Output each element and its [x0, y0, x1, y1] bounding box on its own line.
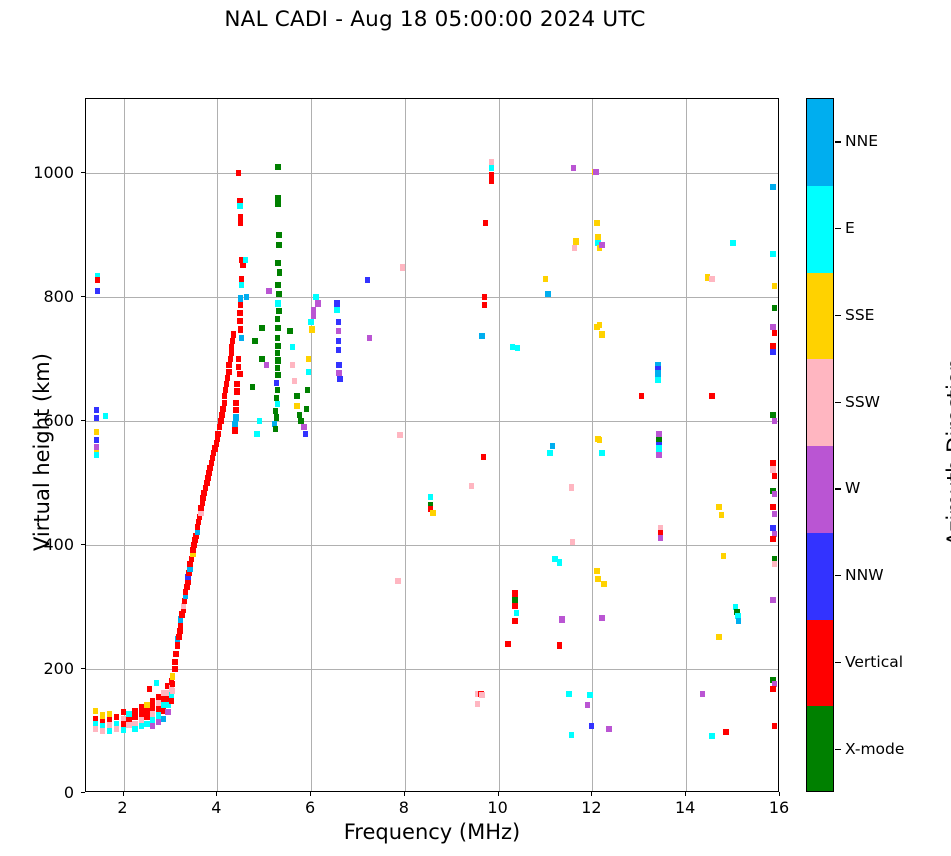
data-point	[587, 692, 593, 698]
colorbar-tick	[835, 315, 841, 316]
colorbar-tick	[835, 228, 841, 229]
y-tick-label: 1000	[14, 163, 74, 182]
data-point	[150, 723, 156, 729]
data-point	[228, 356, 234, 362]
x-tick-mark	[123, 792, 124, 796]
data-point	[275, 401, 281, 407]
y-tick-mark	[81, 420, 85, 421]
data-point	[721, 553, 727, 559]
data-point	[309, 326, 315, 332]
data-point	[430, 510, 436, 516]
y-tick-mark	[81, 172, 85, 173]
data-point	[222, 400, 228, 406]
data-point	[275, 343, 281, 349]
data-point	[237, 203, 243, 209]
colorbar-tick	[835, 749, 841, 750]
colorbar-tick	[835, 402, 841, 403]
data-point	[543, 276, 549, 282]
data-point	[772, 305, 778, 311]
data-point	[287, 328, 293, 334]
y-tick-mark	[81, 668, 85, 669]
data-point	[550, 443, 556, 449]
data-point	[173, 651, 179, 657]
data-point	[479, 333, 485, 339]
colorbar-tick	[835, 662, 841, 663]
y-axis-label: Virtual height (km)	[30, 302, 54, 602]
data-point	[483, 220, 489, 226]
colorbar-segment-x-mode[interactable]	[807, 706, 833, 792]
x-tick-mark	[404, 792, 405, 796]
x-tick-label: 2	[103, 798, 143, 817]
colorbar-segment-nne[interactable]	[807, 99, 833, 186]
x-tick-label: 14	[665, 798, 705, 817]
data-point	[94, 415, 100, 421]
data-point	[100, 728, 106, 734]
data-point	[482, 294, 488, 300]
data-point	[593, 169, 599, 175]
data-point	[93, 726, 99, 732]
data-point	[597, 437, 603, 443]
data-point	[716, 634, 722, 640]
data-point	[770, 597, 776, 603]
data-point	[505, 641, 511, 647]
data-point	[222, 393, 228, 399]
colorbar-tick	[835, 141, 841, 142]
data-point	[237, 310, 243, 316]
data-point	[482, 302, 488, 308]
data-point	[656, 452, 662, 458]
data-point	[512, 603, 518, 609]
data-point	[237, 371, 243, 377]
data-point	[294, 393, 300, 399]
data-point	[595, 576, 601, 582]
data-point	[243, 257, 249, 263]
data-point	[94, 452, 100, 458]
data-point	[237, 318, 243, 324]
data-point	[428, 494, 434, 500]
ionogram-figure: NAL CADI - Aug 18 05:00:00 2024 UTC 2468…	[0, 0, 951, 856]
data-point	[489, 178, 495, 184]
colorbar-label-ssw: SSW	[845, 393, 880, 411]
data-point	[290, 344, 296, 350]
colorbar-segment-ssw[interactable]	[807, 359, 833, 446]
colorbar[interactable]	[806, 98, 834, 792]
data-point	[594, 220, 600, 226]
data-point	[229, 344, 235, 350]
data-point	[772, 511, 778, 517]
data-point	[95, 277, 101, 283]
data-point	[226, 362, 232, 368]
data-point	[132, 726, 138, 732]
data-point	[172, 666, 178, 672]
data-point	[170, 688, 176, 694]
data-point	[566, 691, 572, 697]
data-point	[250, 384, 256, 390]
data-point	[337, 376, 343, 382]
data-point	[275, 335, 281, 341]
data-point	[231, 331, 237, 337]
data-point	[730, 240, 736, 246]
data-point	[226, 369, 232, 375]
data-point	[599, 450, 605, 456]
data-point	[94, 437, 100, 443]
data-point	[239, 282, 245, 288]
data-point	[594, 568, 600, 574]
x-axis-label: Frequency (MHz)	[85, 820, 779, 844]
data-point	[303, 431, 309, 437]
x-tick-label: 16	[759, 798, 799, 817]
x-tick-label: 12	[571, 798, 611, 817]
data-point	[589, 723, 595, 729]
data-point	[599, 331, 605, 337]
plot-area[interactable]	[85, 98, 779, 792]
data-point	[239, 335, 245, 341]
data-point	[217, 424, 223, 430]
data-point	[244, 294, 250, 300]
x-tick-label: 8	[384, 798, 424, 817]
data-point	[275, 201, 281, 207]
data-point	[772, 473, 778, 479]
data-point	[514, 610, 520, 616]
data-point	[95, 288, 101, 294]
x-tick-label: 4	[196, 798, 236, 817]
data-point	[700, 691, 706, 697]
page-title: NAL CADI - Aug 18 05:00:00 2024 UTC	[0, 7, 870, 32]
data-point	[259, 325, 265, 331]
colorbar-segment-vertical[interactable]	[807, 620, 833, 707]
data-point	[305, 387, 311, 393]
data-point	[275, 372, 281, 378]
data-point	[481, 454, 487, 460]
data-point	[515, 345, 521, 351]
data-point	[273, 426, 279, 432]
data-point	[292, 378, 298, 384]
data-point	[336, 338, 342, 344]
data-point	[772, 561, 778, 567]
data-point	[277, 269, 283, 275]
data-point	[172, 659, 178, 665]
data-point	[367, 335, 373, 341]
colorbar-segment-w[interactable]	[807, 446, 833, 533]
colorbar-label-x-mode: X-mode	[845, 740, 904, 758]
data-point	[311, 313, 317, 319]
data-point	[238, 220, 244, 226]
data-point	[304, 406, 310, 412]
data-point	[161, 716, 167, 722]
data-point	[290, 362, 296, 368]
data-point	[259, 356, 265, 362]
data-point	[275, 282, 281, 288]
colorbar-tick	[835, 488, 841, 489]
data-point	[219, 412, 225, 418]
data-point	[275, 260, 281, 266]
data-point	[569, 732, 575, 738]
data-point	[276, 291, 282, 297]
data-point	[658, 535, 664, 541]
data-point	[252, 338, 258, 344]
data-point	[224, 381, 230, 387]
data-point	[572, 245, 578, 251]
data-point	[275, 357, 281, 363]
data-point	[232, 427, 238, 433]
data-point	[165, 709, 171, 715]
data-point	[475, 701, 481, 707]
data-point	[770, 251, 776, 257]
data-point	[264, 362, 270, 368]
y-tick-label: 0	[14, 783, 74, 802]
data-point	[233, 414, 239, 420]
data-point	[557, 559, 563, 565]
data-point	[215, 431, 221, 437]
data-point	[94, 429, 100, 435]
data-point	[107, 728, 113, 734]
data-point	[234, 381, 240, 387]
data-point	[170, 673, 176, 679]
data-point	[275, 387, 281, 393]
data-point	[308, 319, 314, 325]
data-point	[606, 726, 612, 732]
x-tick-label: 6	[290, 798, 330, 817]
data-point	[571, 165, 577, 171]
data-point	[275, 325, 281, 331]
data-point	[570, 539, 576, 545]
data-point	[275, 350, 281, 356]
data-point	[547, 450, 553, 456]
data-point	[709, 733, 715, 739]
data-point	[275, 164, 281, 170]
data-point	[336, 319, 342, 325]
data-point	[639, 393, 645, 399]
data-point	[479, 692, 485, 698]
x-tick-mark	[498, 792, 499, 796]
x-tick-mark	[685, 792, 686, 796]
data-point	[266, 288, 272, 294]
data-point	[772, 283, 778, 289]
data-point	[225, 375, 231, 381]
data-point	[716, 504, 722, 510]
data-point	[238, 326, 244, 332]
data-point	[772, 330, 778, 336]
colorbar-label-vertical: Vertical	[845, 653, 903, 671]
data-point	[336, 362, 342, 368]
data-point	[275, 300, 281, 306]
y-tick-mark	[81, 296, 85, 297]
colorbar-tick	[835, 575, 841, 576]
data-point	[236, 364, 242, 370]
colorbar-label-nnw: NNW	[845, 566, 884, 584]
colorbar-label-e: E	[845, 219, 855, 237]
data-point	[469, 483, 475, 489]
data-point	[709, 276, 715, 282]
data-point	[147, 686, 153, 692]
y-tick-mark	[81, 792, 85, 793]
x-tick-mark	[310, 792, 311, 796]
data-point	[770, 184, 776, 190]
data-point	[275, 316, 281, 322]
data-point	[770, 536, 776, 542]
data-point	[569, 484, 575, 490]
data-point	[177, 628, 183, 634]
data-point	[220, 406, 226, 412]
data-point	[233, 407, 239, 413]
x-tick-label: 10	[478, 798, 518, 817]
y-tick-mark	[81, 544, 85, 545]
data-point	[559, 616, 565, 622]
colorbar-segment-nnw[interactable]	[807, 533, 833, 620]
data-point	[229, 350, 235, 356]
data-point	[93, 708, 99, 714]
y-tick-label: 200	[14, 659, 74, 678]
data-point	[257, 418, 263, 424]
data-point	[770, 504, 776, 510]
data-point	[545, 291, 551, 297]
data-point	[770, 349, 776, 355]
data-point	[230, 338, 236, 344]
data-point	[170, 681, 176, 687]
data-point	[276, 242, 282, 248]
data-point	[218, 418, 224, 424]
data-point	[294, 403, 300, 409]
data-point	[103, 413, 109, 419]
data-point	[594, 324, 600, 330]
data-point	[395, 578, 401, 584]
data-point	[276, 232, 282, 238]
data-point	[94, 407, 100, 413]
data-point	[274, 380, 280, 386]
data-point	[275, 365, 281, 371]
data-point	[772, 723, 778, 729]
data-point	[276, 308, 282, 314]
data-point	[114, 726, 120, 732]
data-point	[154, 680, 160, 686]
data-point	[176, 634, 182, 640]
data-point	[655, 377, 661, 383]
colorbar-title: Azimuth Direction	[943, 292, 951, 612]
data-point	[599, 615, 605, 621]
colorbar-label-w: W	[845, 479, 860, 497]
data-point	[336, 347, 342, 353]
x-tick-mark	[779, 792, 780, 796]
data-point	[400, 264, 406, 270]
data-point	[736, 618, 742, 624]
colorbar-label-nne: NNE	[845, 132, 878, 150]
data-point	[772, 418, 778, 424]
data-point	[719, 512, 725, 518]
data-point	[236, 170, 242, 176]
data-point	[306, 369, 312, 375]
colorbar-segment-sse[interactable]	[807, 273, 833, 360]
data-point	[236, 356, 242, 362]
data-point	[334, 307, 340, 313]
data-point	[234, 388, 240, 394]
data-point	[557, 642, 563, 648]
data-point	[601, 581, 607, 587]
data-point	[772, 491, 778, 497]
data-point	[599, 242, 605, 248]
colorbar-segment-e[interactable]	[807, 186, 833, 273]
data-point	[175, 642, 181, 648]
data-point	[233, 400, 239, 406]
data-point	[169, 698, 175, 704]
data-point	[770, 686, 776, 692]
data-point	[254, 431, 260, 437]
data-point	[397, 432, 403, 438]
data-point	[126, 722, 132, 728]
data-point	[238, 302, 244, 308]
data-point	[365, 277, 371, 283]
x-tick-mark	[216, 792, 217, 796]
x-tick-mark	[591, 792, 592, 796]
data-points-layer	[86, 99, 778, 791]
data-point	[336, 328, 342, 334]
data-point	[512, 618, 518, 624]
data-point	[315, 300, 321, 306]
data-point	[723, 729, 729, 735]
colorbar-label-sse: SSE	[845, 306, 874, 324]
data-point	[709, 393, 715, 399]
data-point	[223, 387, 229, 393]
data-point	[306, 356, 312, 362]
data-point	[585, 702, 591, 708]
